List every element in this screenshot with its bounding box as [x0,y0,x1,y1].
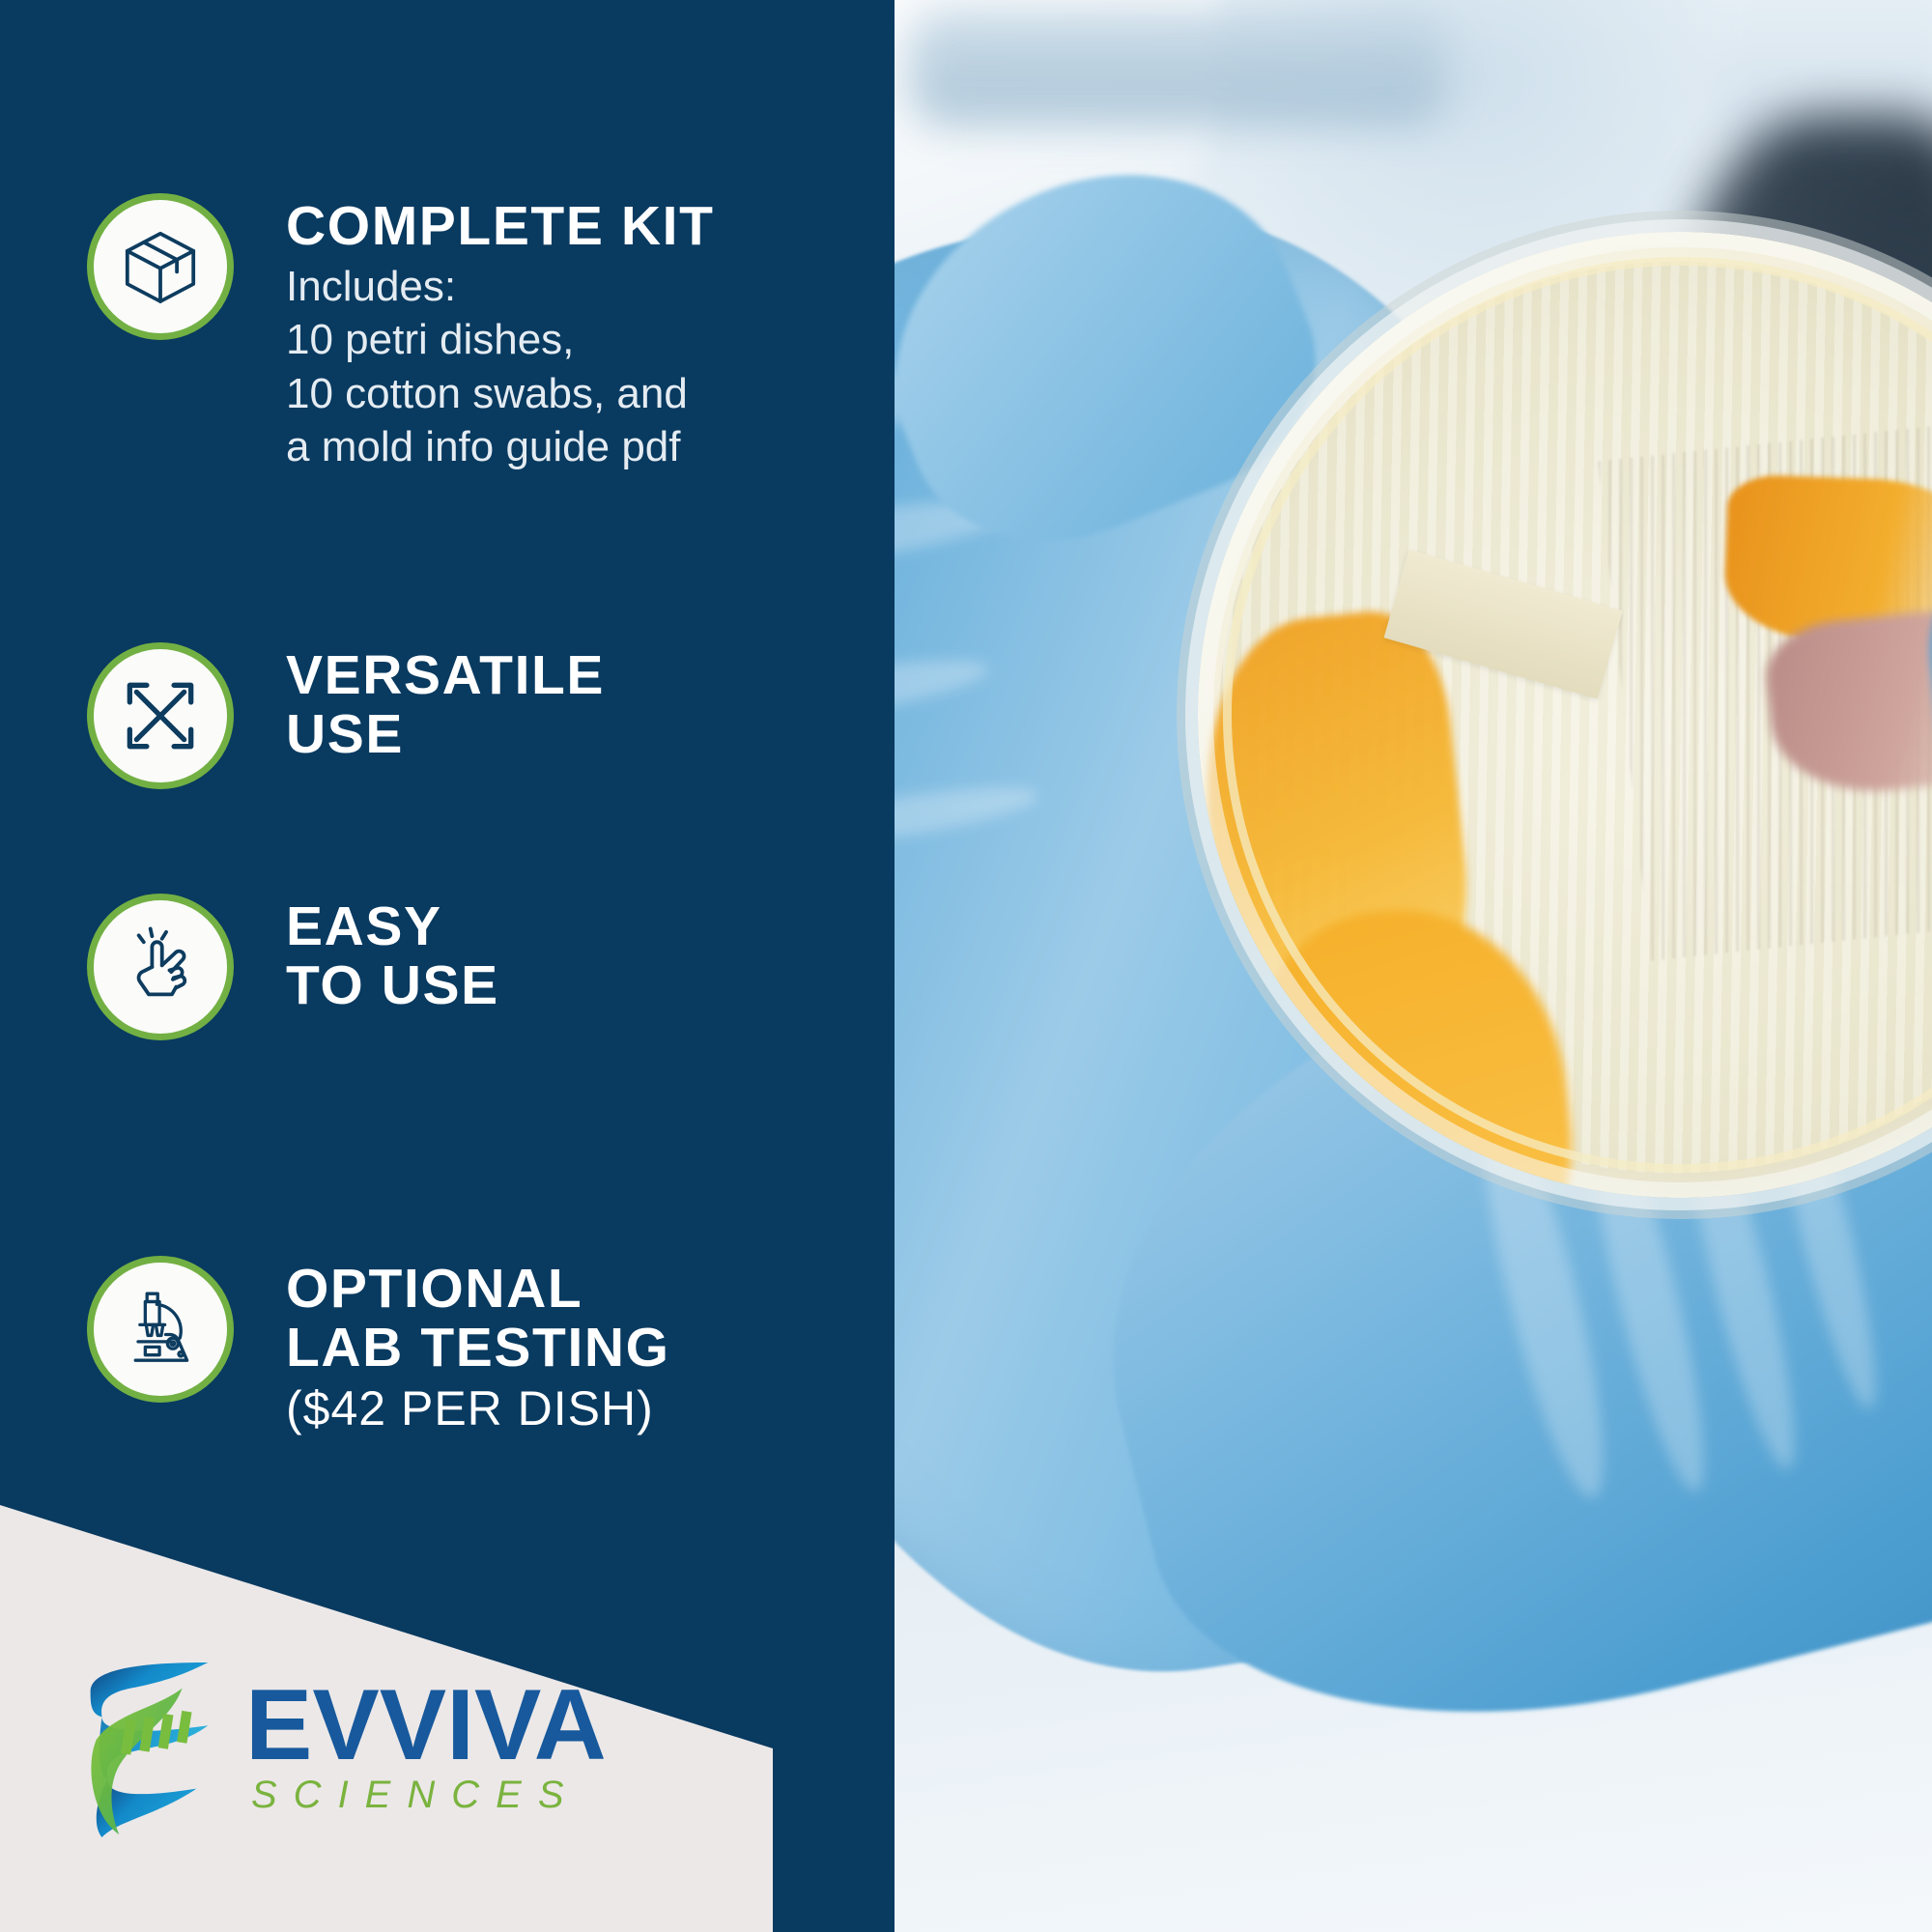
tap-hand-icon [87,894,234,1040]
microscope-icon [87,1256,234,1403]
feature-heading: OPTIONAL LAB TESTING [286,1260,670,1378]
photo-shelf-blur [908,10,1449,126]
feature-heading: COMPLETE KIT [286,197,715,256]
logo-wordmark-group: EVVIVA SCIENCES [245,1680,607,1818]
product-photo [850,0,1932,1932]
feature-item-versatile-use: VERSATILE USE [87,642,605,789]
feature-item-complete-kit: COMPLETE KIT Includes: 10 petri dishes, … [87,193,715,474]
feature-heading: VERSATILE USE [286,646,605,764]
brand-logo: EVVIVA SCIENCES [75,1657,607,1840]
feature-text: OPTIONAL LAB TESTING ($42 PER DISH) [286,1256,670,1435]
package-box-icon [87,193,234,340]
feature-item-optional-lab-testing: OPTIONAL LAB TESTING ($42 PER DISH) [87,1256,670,1435]
feature-price-note: ($42 PER DISH) [286,1382,670,1435]
logo-wordmark: EVVIVA [245,1680,607,1773]
dna-helix-logo-icon [75,1657,220,1840]
feature-text: COMPLETE KIT Includes: 10 petri dishes, … [286,193,715,474]
feature-text: EASY TO USE [286,894,499,1015]
feature-item-easy-to-use: EASY TO USE [87,894,499,1040]
feature-text: VERSATILE USE [286,642,605,764]
feature-subtext: Includes: 10 petri dishes, 10 cotton swa… [286,260,715,474]
infographic-canvas: COMPLETE KIT Includes: 10 petri dishes, … [0,0,1932,1932]
expand-arrows-icon [87,642,234,789]
feature-list: COMPLETE KIT Includes: 10 petri dishes, … [0,0,895,1507]
feature-heading: EASY TO USE [286,897,499,1015]
logo-tagline: SCIENCES [251,1774,607,1817]
